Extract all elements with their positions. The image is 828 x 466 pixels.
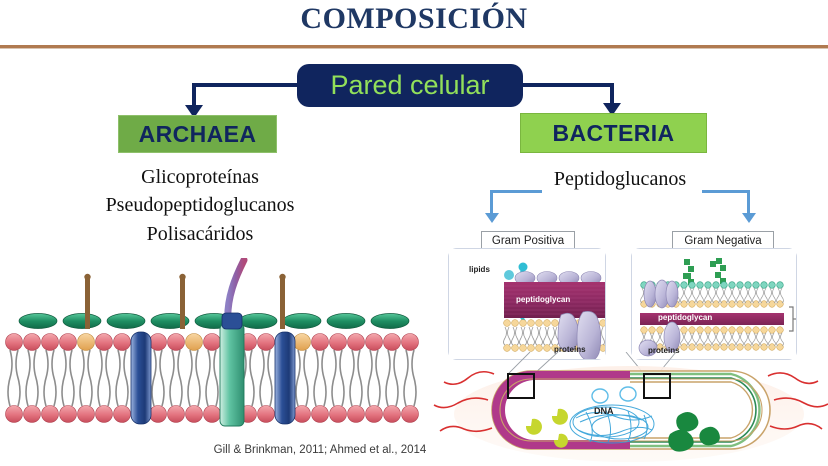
pared-celular-box: Pared celular (297, 64, 523, 107)
gram-positive-peptidoglycan-label: peptidoglycan (516, 295, 570, 304)
archaea-component-list: Glicoproteínas Pseudopeptidoglucanos Pol… (10, 163, 390, 248)
archaea-box: ARCHAEA (118, 115, 277, 153)
archaea-component-2: Polisacáridos (10, 220, 390, 248)
archaea-component-1: Pseudopeptidoglucanos (10, 191, 390, 219)
outer-lipid-head-row (6, 334, 419, 351)
lipid-head-teal-2 (504, 270, 514, 280)
gram-positive-connector-horizontal (490, 190, 542, 193)
gram-negative-arrowhead (742, 213, 756, 223)
connector-left-vertical (192, 83, 196, 107)
gram-negative-connector-horizontal (702, 190, 750, 193)
s-layer-glycoprotein-row (19, 314, 409, 329)
gram-negative-diagram (632, 249, 796, 359)
gram-negative-tag-label: Gram Negativa (684, 235, 761, 247)
archaea-component-0: Glicoproteínas (10, 163, 390, 191)
gram-positive-panel: lipids peptidoglycan proteins (448, 248, 606, 360)
gram-positive-arrowhead (485, 213, 499, 223)
archaea-membrane-illustration (0, 258, 430, 448)
porin-3 (666, 281, 678, 307)
connector-right-vertical (610, 83, 614, 105)
page-title: COMPOSICIÓN (0, 2, 828, 36)
gram-negative-panel: peptidoglycan proteins (631, 248, 797, 360)
slide-root: COMPOSICIÓN Pared celular ARCHAEA BACTER… (0, 0, 828, 466)
bacteria-label: BACTERIA (552, 120, 674, 147)
gram-positive-tag-label: Gram Positiva (492, 235, 564, 247)
peptidoglucanos-label: Peptidoglucanos (470, 168, 770, 191)
archaea-label: ARCHAEA (139, 121, 257, 148)
gram-negative-connector-vertical (747, 190, 750, 215)
lipid-head-teal (519, 263, 528, 272)
connector-right-horizontal (518, 83, 614, 87)
bacteria-box: BACTERIA (520, 113, 707, 153)
lipid-tail-region (8, 350, 416, 406)
gram-negative-peptidoglycan-label: peptidoglycan (658, 313, 712, 322)
dna-label: DNA (594, 406, 614, 416)
gram-positive-lipids-label: lipids (469, 265, 490, 274)
porin-1 (644, 281, 656, 307)
bacterium-illustration (430, 352, 828, 466)
connector-left-horizontal (192, 83, 302, 87)
inner-lipid-head-row (6, 406, 419, 423)
citation-text: Gill & Brinkman, 2011; Ahmed et al., 201… (180, 444, 460, 456)
title-divider-shadow (0, 48, 828, 49)
pared-celular-label: Pared celular (330, 72, 489, 99)
gram-positive-connector-vertical (490, 190, 493, 215)
